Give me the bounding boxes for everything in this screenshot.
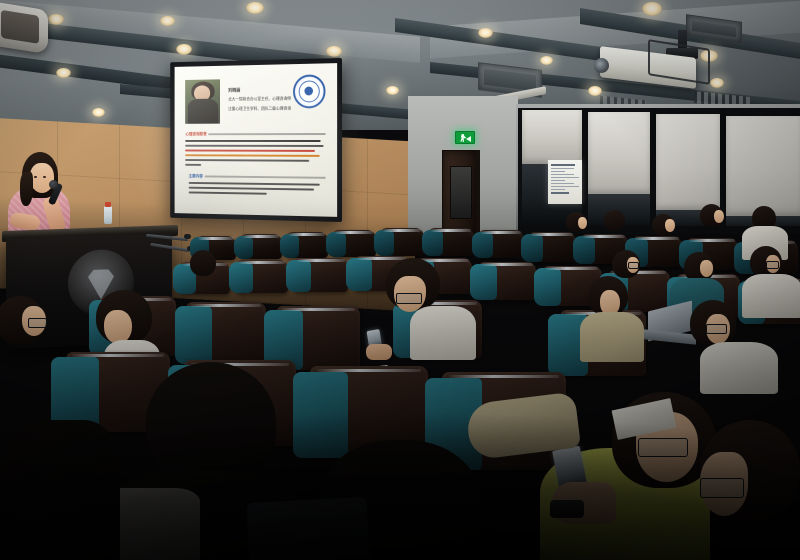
university-seal-icon <box>293 74 325 108</box>
mic-capsule-1 <box>184 234 191 239</box>
slide-section-2-heading: 主要内容 <box>189 174 203 180</box>
presenter-hair-side <box>20 172 33 206</box>
downlight-9 <box>588 86 602 96</box>
auditorium-seat[interactable] <box>186 302 266 364</box>
eyeglasses-icon <box>638 438 688 457</box>
slide-surface: 刘晓丽 北大一院联合办公室主任、心理咨询师 注重心理卫生学科、团队二级心理咨询 … <box>175 63 338 217</box>
eyeglasses-icon <box>766 261 779 269</box>
auditorium-seat[interactable] <box>478 230 524 258</box>
slide-portrait-photo <box>185 79 220 124</box>
eyeglasses-icon <box>28 318 47 328</box>
auditorium-seat[interactable] <box>286 232 328 258</box>
downlight-5 <box>176 44 192 55</box>
wall-monitor[interactable] <box>548 160 582 204</box>
foreground-person <box>0 420 120 560</box>
loudspeaker-icon <box>0 2 48 55</box>
auditorium-seat[interactable] <box>236 260 288 293</box>
audience-torso <box>410 306 476 360</box>
roller-blind-1[interactable] <box>522 110 582 164</box>
downlight-8 <box>478 28 493 38</box>
presenter-face <box>30 163 54 193</box>
audience-face <box>665 219 675 232</box>
microphone-head-icon <box>49 180 58 189</box>
audience-torso <box>580 312 644 362</box>
wristwatch-icon <box>550 500 584 518</box>
slide-title-name: 刘晓丽 <box>228 88 240 94</box>
foreground-head <box>146 362 276 482</box>
audience-face <box>700 260 713 277</box>
slide-section-2: 主要内容 <box>189 174 326 199</box>
audience-torso <box>742 274 800 318</box>
downlight-10 <box>642 2 662 16</box>
water-bottle <box>104 206 112 224</box>
auditorium-seat[interactable] <box>294 258 348 292</box>
downlight-2 <box>160 16 175 26</box>
downlight-1 <box>48 14 64 25</box>
eyeglasses-icon <box>706 324 727 334</box>
audience-face <box>714 210 724 223</box>
window-mullion-2 <box>650 108 656 230</box>
auditorium-seat[interactable] <box>428 228 474 256</box>
auditorium-seat[interactable] <box>380 228 424 256</box>
presenter-eye-right <box>43 176 46 178</box>
audience-hand <box>366 344 392 360</box>
exit-sign <box>455 131 475 144</box>
eyeglasses-icon <box>628 262 639 269</box>
lecture-hall-photo: 刘晓丽 北大一院联合办公室主任、心理咨询师 注重心理卫生学科、团队二级心理咨询 … <box>0 0 800 560</box>
eyeglasses-icon <box>396 293 422 304</box>
audience-head <box>604 210 625 231</box>
audience-torso <box>700 342 778 394</box>
audience-face <box>104 310 132 344</box>
roller-blind-2[interactable] <box>588 112 650 194</box>
downlight-6 <box>92 108 105 117</box>
window-mullion-1 <box>582 108 588 230</box>
auditorium-seat[interactable] <box>478 262 536 300</box>
roller-blind-4[interactable] <box>726 116 800 216</box>
slide-title-role-1: 北大一院联合办公室主任、心理咨询师 <box>228 96 327 103</box>
slide-section-1: 心理咨询职责 <box>185 131 325 170</box>
slide-title-role-2: 注重心理卫生学科、团队二级心理咨询 <box>228 106 327 112</box>
downlight-12 <box>710 78 724 88</box>
auditorium-seat[interactable] <box>332 230 376 257</box>
audience-face <box>578 217 587 229</box>
roller-blind-3[interactable] <box>656 114 720 210</box>
auditorium-seat[interactable] <box>240 234 282 259</box>
foreground-device <box>246 497 369 560</box>
bottle-cap <box>105 202 111 207</box>
audience-head <box>190 250 216 276</box>
slide-section-1-heading: 心理咨询职责 <box>185 131 206 137</box>
downlight-13 <box>540 56 553 65</box>
projector-lens-icon <box>594 58 609 73</box>
projection-screen: 刘晓丽 北大一院联合办公室主任、心理咨询师 注重心理卫生学科、团队二级心理咨询 … <box>170 58 342 222</box>
eyeglasses-icon <box>700 478 744 498</box>
laptop-keyboard[interactable] <box>644 329 696 344</box>
downlight-4 <box>56 68 71 78</box>
presenter-eye-left <box>34 176 37 178</box>
door-frame <box>476 150 480 242</box>
downlight-3 <box>246 2 264 14</box>
downlight-14 <box>386 86 399 95</box>
downlight-7 <box>326 46 342 57</box>
auditorium-seat[interactable] <box>528 232 576 262</box>
